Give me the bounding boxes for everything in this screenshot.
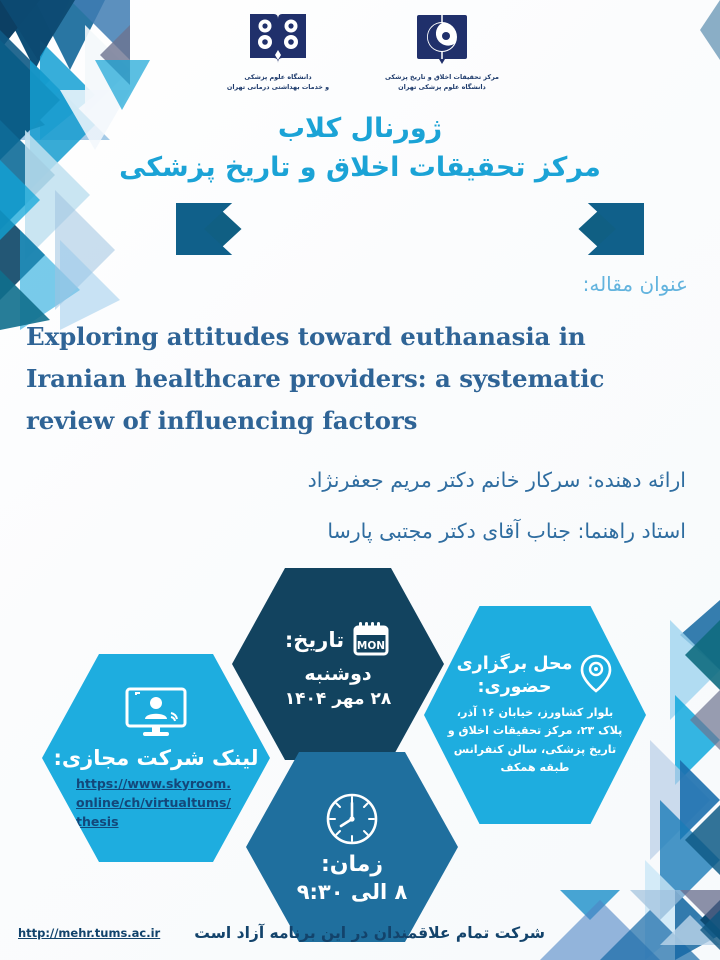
time-value: ۸ الی ۹:۳۰ xyxy=(297,880,408,904)
journal-club-heading-line2: مرکز تحقیقات اخلاق و تاریخ پزشکی xyxy=(0,152,720,183)
presenter-line: ارائه دهنده: سرکار خانم دکتر مریم جعفرنژ… xyxy=(34,468,686,492)
hexagon-date: MON تاریخ: دوشنبه ۲۸ مهر ۱۴۰۴ xyxy=(232,568,444,760)
clock-icon xyxy=(323,790,381,852)
poster-root: دانشگاه علوم پزشکی و خدمات بهداشتی درمان… xyxy=(0,0,720,960)
place-address-line: طبقه همکف xyxy=(447,759,623,777)
date-header: MON تاریخ: xyxy=(285,620,391,662)
footer-note: شرکت تمام علاقمندان در این برنامه آزاد ا… xyxy=(194,924,545,942)
ribbon-label: مرور نقادانه مقاله xyxy=(314,220,506,244)
time-title: زمان: xyxy=(321,852,383,877)
date-day: دوشنبه xyxy=(304,663,371,685)
tums-caption-line1: دانشگاه علوم پزشکی xyxy=(214,73,342,83)
logo-ethics-center: مرکز تحقیقات اخلاق و تاریخ پزشکی دانشگاه… xyxy=(378,8,506,93)
logo-row: دانشگاه علوم پزشکی و خدمات بهداشتی درمان… xyxy=(0,8,720,93)
date-value: ۲۸ مهر ۱۴۰۴ xyxy=(285,689,391,709)
place-header: محل برگزاری حضوری: xyxy=(457,653,614,699)
ethics-center-book-icon xyxy=(378,8,506,70)
tums-logo-caption: دانشگاه علوم پزشکی و خدمات بهداشتی درمان… xyxy=(214,73,342,93)
place-address-line: تاریخ پزشکی، سالن کنفرانس xyxy=(447,741,623,759)
place-address-line: بلوار کشاورز، خیابان ۱۶ آذر، xyxy=(447,704,623,722)
decorative-geometry-right-bottom xyxy=(630,600,720,960)
ethics-caption-line2: دانشگاه علوم پزشکی تهران xyxy=(378,83,506,93)
ethics-center-logo-caption: مرکز تحقیقات اخلاق و تاریخ پزشکی دانشگاه… xyxy=(378,73,506,93)
paper-title-label: عنوان مقاله: xyxy=(583,272,688,296)
logo-tums: دانشگاه علوم پزشکی و خدمات بهداشتی درمان… xyxy=(214,8,342,93)
map-pin-icon xyxy=(579,653,613,699)
calendar-icon-label: MON xyxy=(357,640,385,652)
hexagon-time: زمان: ۸ الی ۹:۳۰ xyxy=(246,752,458,942)
hexagon-virtual-link: لینک شرکت مجازی: https://www.skyroom.onl… xyxy=(42,654,270,862)
place-title-line1: محل برگزاری xyxy=(457,654,573,674)
calendar-icon: MON xyxy=(351,620,391,662)
place-address-line: پلاک ۲۳، مرکز تحقیقات اخلاق و xyxy=(447,722,623,740)
paper-title: Exploring attitudes toward euthanasia in… xyxy=(26,316,672,442)
date-title: تاریخ: xyxy=(285,627,344,653)
supervisor-line: استاد راهنما: جناب آقای دکتر مجتبی پارسا xyxy=(34,519,686,543)
tums-book-icon xyxy=(214,8,342,70)
place-title: محل برگزاری حضوری: xyxy=(457,653,573,699)
tums-caption-line2: و خدمات بهداشتی درمانی تهران xyxy=(214,83,342,93)
ribbon-banner: مرور نقادانه مقاله xyxy=(176,203,644,255)
ethics-caption-line1: مرکز تحقیقات اخلاق و تاریخ پزشکی xyxy=(378,73,506,83)
virtual-link-url[interactable]: https://www.skyroom.online/ch/virtualtum… xyxy=(76,774,236,831)
place-title-line2: حضوری: xyxy=(478,677,552,697)
ribbon-shape xyxy=(176,203,644,255)
virtual-link-title: لینک شرکت مجازی: xyxy=(53,746,258,770)
place-address: بلوار کشاورز، خیابان ۱۶ آذر، پلاک ۲۳، مر… xyxy=(447,704,623,777)
footer-url[interactable]: http://mehr.tums.ac.ir xyxy=(18,926,160,940)
monitor-user-icon xyxy=(121,686,191,744)
journal-club-heading-line1: ژورنال کلاب xyxy=(0,113,720,144)
hexagon-place: محل برگزاری حضوری: بلوار کشاورز، خیابان … xyxy=(424,606,646,824)
